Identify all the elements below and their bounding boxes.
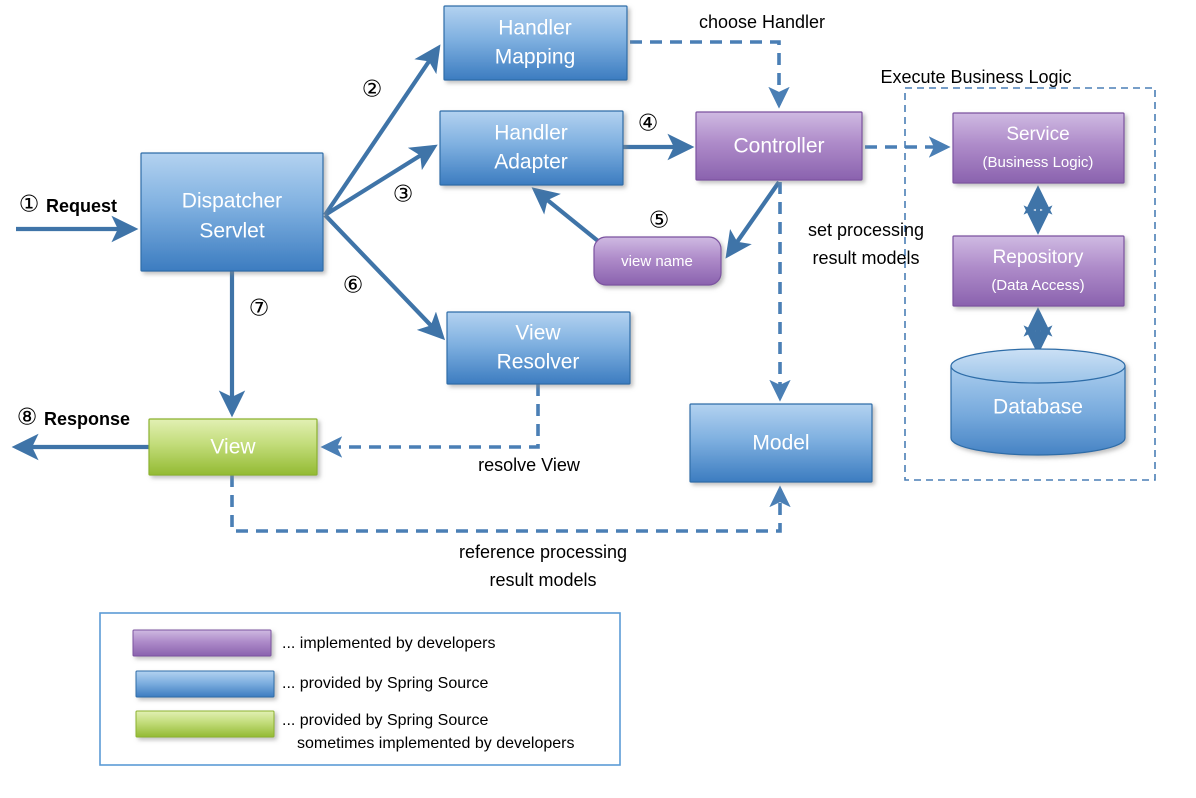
legend-label-purple: ... implemented by developers xyxy=(282,635,495,652)
database-top xyxy=(951,349,1125,383)
view-name-label: view name xyxy=(621,253,693,270)
repository-label-1: Repository xyxy=(993,247,1084,268)
legend-label-blue: ... provided by Spring Source xyxy=(282,675,488,692)
step-number-2: ② xyxy=(362,76,383,101)
annotation-set-processing-1: set processing xyxy=(808,220,924,240)
node-view-name[interactable]: view name xyxy=(594,237,721,285)
repository-label-2: (Data Access) xyxy=(991,277,1084,294)
dashed-view-to-model xyxy=(232,475,780,531)
legend-swatch-purple xyxy=(133,630,271,656)
annotation-set-processing-2: result models xyxy=(812,248,919,268)
annotation-reference-processing-2: result models xyxy=(489,570,596,590)
service-label-2: (Business Logic) xyxy=(983,154,1094,171)
dispatcher-servlet-label-1: Dispatcher xyxy=(182,190,282,213)
database-label: Database xyxy=(993,396,1083,419)
dispatcher-servlet-label-2: Servlet xyxy=(199,220,265,243)
view-resolver-label-1: View xyxy=(515,322,561,345)
dashed-choose-handler xyxy=(630,42,779,105)
handler-mapping-label-2: Mapping xyxy=(495,46,576,69)
node-view-resolver[interactable]: View Resolver xyxy=(447,312,630,384)
annotation-reference-processing-1: reference processing xyxy=(459,542,627,562)
step-number-5: ⑤ xyxy=(649,207,670,232)
step-number-1: ① xyxy=(19,191,40,216)
node-view[interactable]: View xyxy=(149,419,317,475)
node-controller[interactable]: Controller xyxy=(696,112,862,180)
diagram-svg: Dispatcher Servlet Handler Mapping Handl… xyxy=(0,0,1196,798)
step-number-4: ④ xyxy=(638,110,659,135)
node-dispatcher-servlet[interactable]: Dispatcher Servlet xyxy=(141,153,323,271)
step-label-request: Request xyxy=(46,196,117,216)
model-label: Model xyxy=(752,432,809,455)
step-number-7: ⑦ xyxy=(249,295,270,320)
annotation-execute-business-logic: Execute Business Logic xyxy=(880,67,1071,87)
node-repository[interactable]: Repository (Data Access) xyxy=(953,236,1124,306)
annotation-choose-handler: choose Handler xyxy=(699,12,825,32)
arrow-controller-to-view-name xyxy=(728,182,779,255)
legend-swatch-blue xyxy=(136,671,274,697)
step-label-response: Response xyxy=(44,409,130,429)
handler-mapping-label-1: Handler xyxy=(498,17,572,40)
node-handler-mapping[interactable]: Handler Mapping xyxy=(444,6,627,80)
legend-swatch-green xyxy=(136,711,274,737)
step-number-8: ⑧ xyxy=(17,404,38,429)
controller-label: Controller xyxy=(733,135,824,158)
node-service[interactable]: Service (Business Logic) xyxy=(953,113,1124,183)
handler-adapter-label-1: Handler xyxy=(494,122,568,145)
arrow-dispatcher-to-handler-adapter xyxy=(325,147,434,215)
service-label-1: Service xyxy=(1006,124,1069,145)
view-label: View xyxy=(210,436,256,459)
view-resolver-label-2: Resolver xyxy=(497,351,580,374)
node-handler-adapter[interactable]: Handler Adapter xyxy=(440,111,623,185)
arrow-dispatcher-to-handler-mapping xyxy=(325,48,438,215)
step-number-6: ⑥ xyxy=(343,272,364,297)
node-database[interactable]: Database xyxy=(951,349,1125,455)
legend-label-green-1: ... provided by Spring Source xyxy=(282,712,488,729)
arrow-view-name-to-handler-adapter xyxy=(535,190,598,241)
step-number-3: ③ xyxy=(393,181,414,206)
legend-label-green-2: sometimes implemented by developers xyxy=(297,735,574,752)
dashed-resolve-view xyxy=(324,384,538,447)
annotation-resolve-view: resolve View xyxy=(478,455,581,475)
node-model[interactable]: Model xyxy=(690,404,872,482)
diagram-canvas: Dispatcher Servlet Handler Mapping Handl… xyxy=(0,0,1196,798)
legend-box: ... implemented by developers ... provid… xyxy=(100,613,620,765)
handler-adapter-label-2: Adapter xyxy=(494,151,568,174)
